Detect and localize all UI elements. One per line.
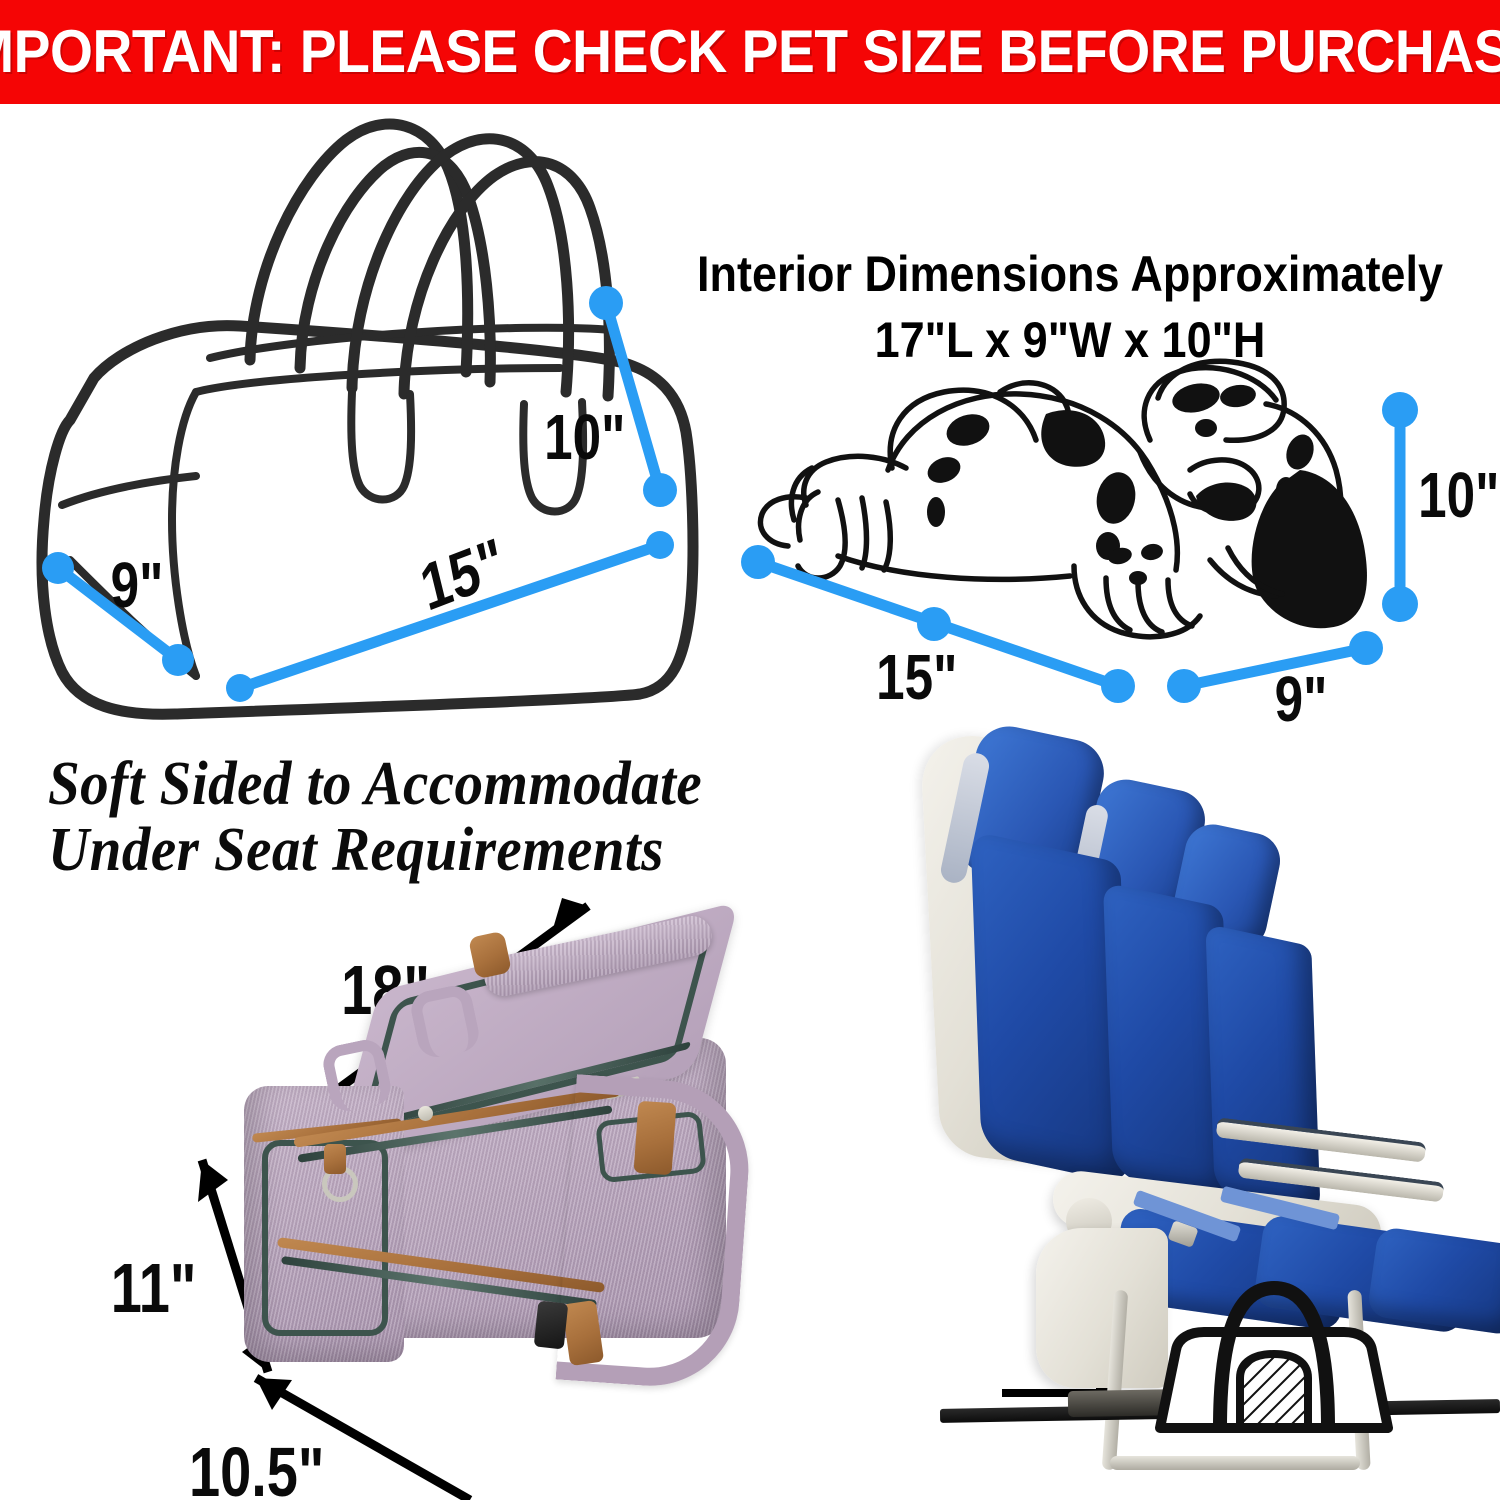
interior-dimensions-line1: Interior Dimensions Approximately <box>683 245 1457 303</box>
bag-dimension-lines <box>42 286 677 702</box>
pet-width-label: 9" <box>1275 662 1328 736</box>
carrier-snap-button-icon <box>418 1106 433 1121</box>
bag-length-label: 15" <box>413 522 511 625</box>
bag-width-label: 9" <box>111 548 164 622</box>
warning-banner: IMPORTANT: PLEASE CHECK PET SIZE BEFORE … <box>0 0 1500 104</box>
pet-dimension-lines <box>741 392 1418 703</box>
pet-length-label: 15" <box>876 640 957 714</box>
tagline-line2: Under Seat Requirements <box>48 818 876 884</box>
carrier-height-label: 11" <box>111 1248 197 1328</box>
interior-dimensions-line2: 17"L x 9"W x 10"H <box>683 311 1457 369</box>
dalmatian-dog-sketch <box>760 361 1367 636</box>
tagline-line1: Soft Sided to Accommodate <box>48 752 876 818</box>
pet-height-label: 10" <box>1418 458 1499 532</box>
carrier-width-label: 10.5" <box>189 1432 325 1512</box>
warning-banner-text: IMPORTANT: PLEASE CHECK PET SIZE BEFORE … <box>0 22 1500 82</box>
bag-height-label: 10" <box>544 400 625 474</box>
carrier-strap-keeper-top <box>634 1101 677 1175</box>
seat-leg-crossbar <box>1110 1456 1360 1470</box>
carrier-flap-leather-cap <box>468 931 512 980</box>
soft-sided-tagline: Soft Sided to Accommodate Under Seat Req… <box>48 752 948 883</box>
under-seat-bag-icon <box>1134 1258 1414 1448</box>
carrier-bottom-buckle-icon <box>534 1301 569 1350</box>
airplane-seat-photo <box>920 730 1500 1500</box>
interior-dimensions-block: Interior Dimensions Approximately 17"L x… <box>640 245 1500 369</box>
carrier-d-ring-tab <box>324 1144 346 1174</box>
pet-carrier-photo <box>236 930 776 1430</box>
